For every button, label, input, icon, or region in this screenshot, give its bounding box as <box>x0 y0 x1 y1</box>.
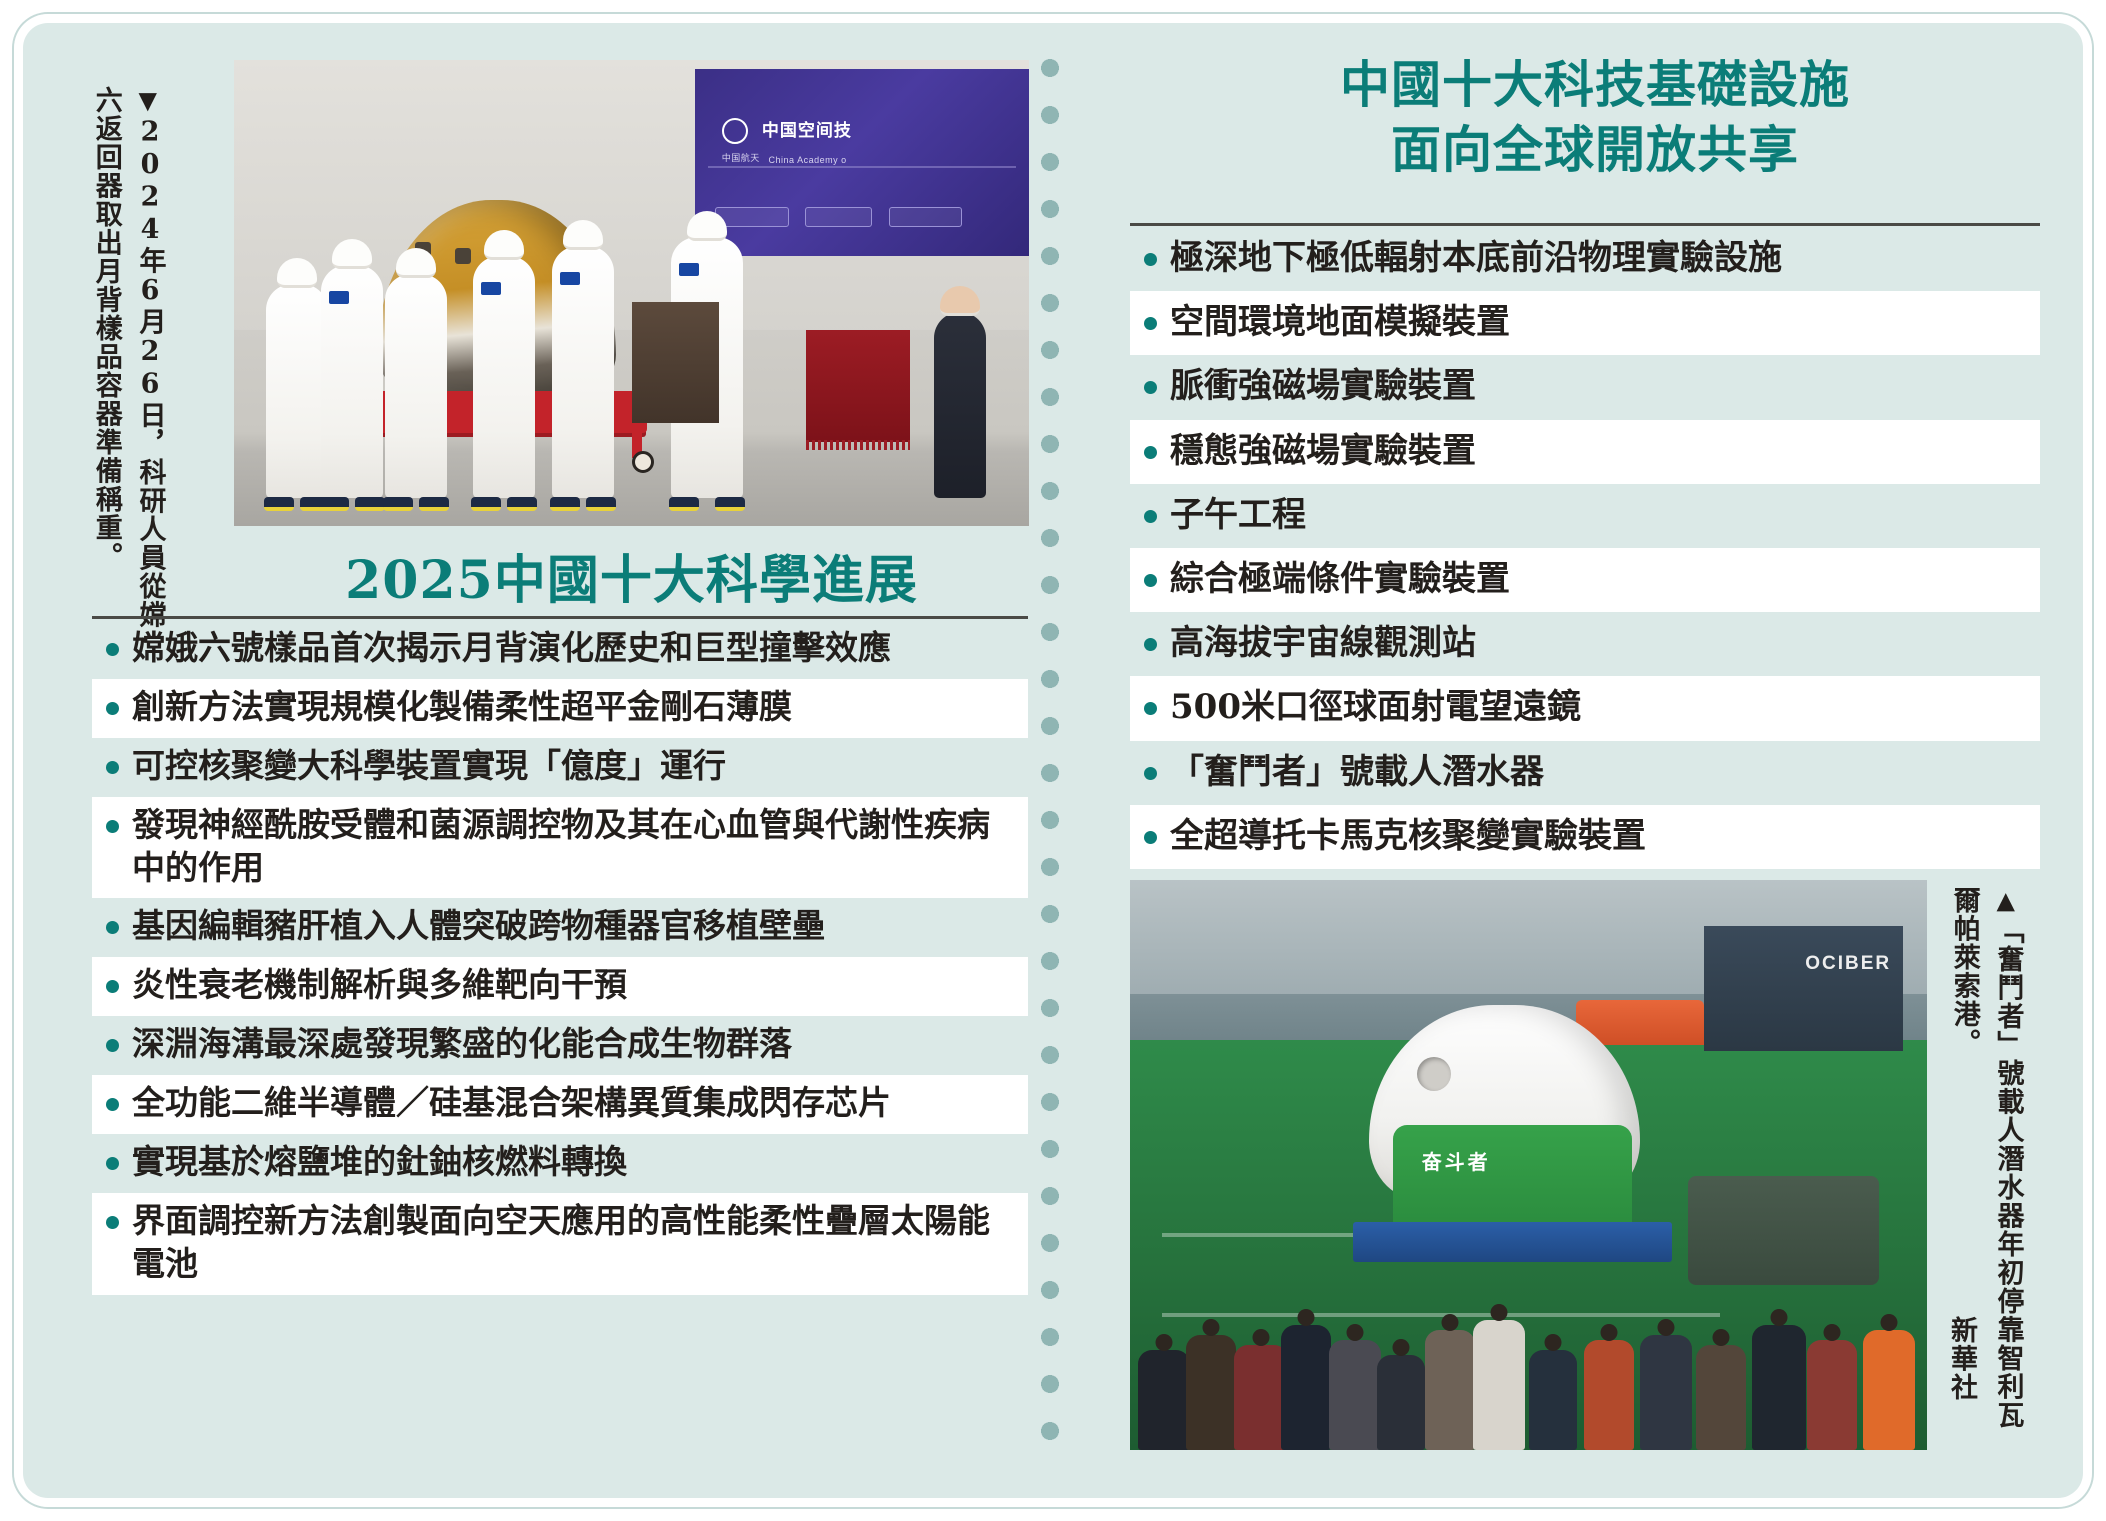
bullet-icon <box>106 1098 119 1111</box>
chang-e-6-capsule-photo: 中国空间技 China Academy o 中国航天 <box>234 60 1029 526</box>
science-advances-list: 嫦娥六號樣品首次揭示月背演化歷史和巨型撞擊效應創新方法實現規模化製備柔性超平金剛… <box>92 620 1028 1295</box>
onlooker <box>1473 1320 1525 1450</box>
screen-subtitle: China Academy o <box>769 155 847 165</box>
researcher-2 <box>321 265 383 498</box>
list-item-label: 極深地下極低輻射本底前沿物理實驗設施 <box>1170 236 2030 280</box>
onlooker <box>1281 1325 1331 1450</box>
crane-label: OCIBER <box>1805 953 1891 975</box>
list-item: 可控核聚變大科學裝置實現「億度」運行 <box>92 738 1028 797</box>
bullet-icon <box>106 921 119 934</box>
list-item-label: 炎性衰老機制解析與多維靶向干預 <box>132 964 1018 1007</box>
researcher-3 <box>385 274 447 498</box>
list-item: 創新方法實現規模化製備柔性超平金剛石薄膜 <box>92 679 1028 738</box>
list-item: 全超導托卡馬克核聚變實驗裝置 <box>1130 805 2040 869</box>
crowd-of-onlookers <box>1130 1199 1927 1450</box>
bullet-icon <box>106 1157 119 1170</box>
bullet-icon <box>1144 702 1157 715</box>
column-divider-dots <box>1040 58 1060 1453</box>
list-item: 空間環境地面模擬裝置 <box>1130 291 2040 355</box>
cart-wheel-right <box>632 451 654 473</box>
left-column: ▶2024年6月26日，科研人員從嫦六返回器取出月背樣品容器準備稱重。 中国空间… <box>78 38 1028 1458</box>
onlooker <box>1807 1340 1857 1450</box>
bullet-icon <box>1144 574 1157 587</box>
list-item-label: 發現神經酰胺受體和菌源調控物及其在心血管與代謝性疾病中的作用 <box>132 804 1018 890</box>
bullet-icon <box>106 820 119 833</box>
bullet-icon <box>106 761 119 774</box>
space-agency-logo-icon <box>722 118 748 144</box>
list-item-label: 空間環境地面模擬裝置 <box>1170 300 2030 344</box>
screen-title: 中国空间技 <box>762 116 852 141</box>
list-item: 基因編輯豬肝植入人體突破跨物種器官移植壁壘 <box>92 898 1028 957</box>
list-item: 實現基於熔鹽堆的釷鈾核燃料轉換 <box>92 1134 1028 1193</box>
bullet-icon <box>1144 253 1157 266</box>
list-item: 界面調控新方法創製面向空天應用的高性能柔性疊層太陽能電池 <box>92 1193 1028 1295</box>
infographic-page: ▶2024年6月26日，科研人員從嫦六返回器取出月背樣品容器準備稱重。 中国空间… <box>0 0 2106 1521</box>
photo-credit: 新華社 <box>1942 1316 1981 1402</box>
list-item-label: 基因編輯豬肝植入人體突破跨物種器官移植壁壘 <box>132 905 1018 948</box>
right-column: 中國十大科技基礎設施 面向全球開放共享 極深地下極低輻射本底前沿物理實驗設施空間… <box>1120 38 2070 1468</box>
list-item: 發現神經酰胺受體和菌源調控物及其在心血管與代謝性疾病中的作用 <box>92 797 1028 899</box>
list-item: 穩態強磁場實驗裝置 <box>1130 420 2040 484</box>
left-section-title: 2025中國十大科學進展 <box>234 538 1029 613</box>
list-item-label: 深淵海溝最深處發現繁盛的化能合成生物群落 <box>132 1023 1018 1066</box>
list-item-label: 嫦娥六號樣品首次揭示月背演化歷史和巨型撞擊效應 <box>132 627 1018 670</box>
right-title-line-2: 面向全球開放共享 <box>1130 117 2060 182</box>
bullet-icon <box>106 980 119 993</box>
list-item-label: 全功能二維半導體／硅基混合架構異質集成閃存芯片 <box>132 1082 1018 1125</box>
list-item: 炎性衰老機制解析與多維靶向干預 <box>92 957 1028 1016</box>
red-cloth-table <box>806 330 909 442</box>
bullet-icon <box>1144 446 1157 459</box>
list-item: 極深地下極低輻射本底前沿物理實驗設施 <box>1130 227 2040 291</box>
bullet-icon <box>106 1216 119 1229</box>
left-title-rule <box>92 616 1028 619</box>
caption-arrow-icon: ◀ <box>1992 882 2023 921</box>
onlooker <box>1640 1335 1692 1450</box>
list-item: 嫦娥六號樣品首次揭示月背演化歷史和巨型撞擊效應 <box>92 620 1028 679</box>
onlooker <box>1234 1345 1288 1450</box>
right-title-rule <box>1130 223 2040 226</box>
screen-button-2 <box>805 207 872 227</box>
list-item-label: 全超導托卡馬克核聚變實驗裝置 <box>1170 814 2030 858</box>
researcher-5 <box>552 246 614 498</box>
onlooker <box>1752 1325 1806 1450</box>
bullet-icon <box>1144 317 1157 330</box>
onlooker <box>1138 1350 1190 1450</box>
onlooker <box>1863 1330 1915 1450</box>
bullet-icon <box>1144 638 1157 651</box>
onlooker <box>1377 1355 1425 1450</box>
bullet-icon <box>1144 510 1157 523</box>
onlooker <box>1584 1340 1634 1450</box>
onlooker <box>1186 1335 1236 1450</box>
researcher-1 <box>266 284 328 498</box>
bullet-icon <box>106 1039 119 1052</box>
list-item-label: 脈衝強磁場實驗裝置 <box>1170 364 2030 408</box>
list-item-label: 高海拔宇宙線觀測站 <box>1170 621 2030 665</box>
official-observer <box>934 312 986 498</box>
researcher-4 <box>473 256 535 498</box>
list-item-label: 可控核聚變大科學裝置實現「億度」運行 <box>132 745 1018 788</box>
list-item: 高海拔宇宙線觀測站 <box>1130 612 2040 676</box>
onlooker <box>1529 1350 1577 1450</box>
caption-arrow-icon: ▶ <box>134 82 165 121</box>
bullet-icon <box>1144 831 1157 844</box>
list-item-label: 實現基於熔鹽堆的釷鈾核燃料轉換 <box>132 1141 1018 1184</box>
bullet-icon <box>1144 381 1157 394</box>
list-item-label: 500米口徑球面射電望遠鏡 <box>1170 685 2030 729</box>
right-title-line-1: 中國十大科技基礎設施 <box>1130 52 2060 117</box>
list-item-label: 創新方法實現規模化製備柔性超平金剛石薄膜 <box>132 686 1018 729</box>
list-item-label: 綜合極端條件實驗裝置 <box>1170 557 2030 601</box>
display-pedestal <box>632 302 719 423</box>
bullet-icon <box>106 702 119 715</box>
list-item-label: 子午工程 <box>1170 493 2030 537</box>
onlooker <box>1425 1330 1475 1450</box>
list-item: 「奮鬥者」號載人潛水器 <box>1130 741 2040 805</box>
bullet-icon <box>106 643 119 656</box>
submersible-name-label: 奋斗者 <box>1422 1146 1491 1175</box>
list-item: 脈衝強磁場實驗裝置 <box>1130 355 2040 419</box>
infrastructure-list: 極深地下極低輻射本底前沿物理實驗設施空間環境地面模擬裝置脈衝強磁場實驗裝置穩態強… <box>1130 227 2040 869</box>
list-item: 深淵海溝最深處發現繁盛的化能合成生物群落 <box>92 1016 1028 1075</box>
capsule-photo-caption: ▶2024年6月26日，科研人員從嫦六返回器取出月背樣品容器準備稱重。 <box>84 86 171 646</box>
list-item-label: 界面調控新方法創製面向空天應用的高性能柔性疊層太陽能電池 <box>132 1200 1018 1286</box>
list-item: 子午工程 <box>1130 484 2040 548</box>
ship-crane: OCIBER <box>1704 926 1903 1051</box>
bullet-icon <box>1144 767 1157 780</box>
screen-brand: 中国航天 <box>722 151 760 164</box>
onlooker <box>1329 1340 1381 1450</box>
onlooker <box>1696 1345 1746 1450</box>
right-section-title: 中國十大科技基礎設施 面向全球開放共享 <box>1130 52 2060 182</box>
list-item: 500米口徑球面射電望遠鏡 <box>1130 676 2040 740</box>
list-item: 綜合極端條件實驗裝置 <box>1130 548 2040 612</box>
screen-divider <box>708 166 1015 168</box>
caption-body: 2024年6月26日，科研人員從嫦六返回器取出月背樣品容器準備稱重。 <box>91 86 166 629</box>
submersible-photo: OCIBER 奋斗者 <box>1130 880 1927 1450</box>
list-item: 全功能二維半導體／硅基混合架構異質集成閃存芯片 <box>92 1075 1028 1134</box>
backdrop-screen: 中国空间技 China Academy o 中国航天 <box>695 69 1029 255</box>
list-item-label: 穩態強磁場實驗裝置 <box>1170 429 2030 473</box>
submersible-viewport-icon <box>1417 1057 1451 1091</box>
screen-button-3 <box>889 207 962 227</box>
list-item-label: 「奮鬥者」號載人潛水器 <box>1170 750 2030 794</box>
